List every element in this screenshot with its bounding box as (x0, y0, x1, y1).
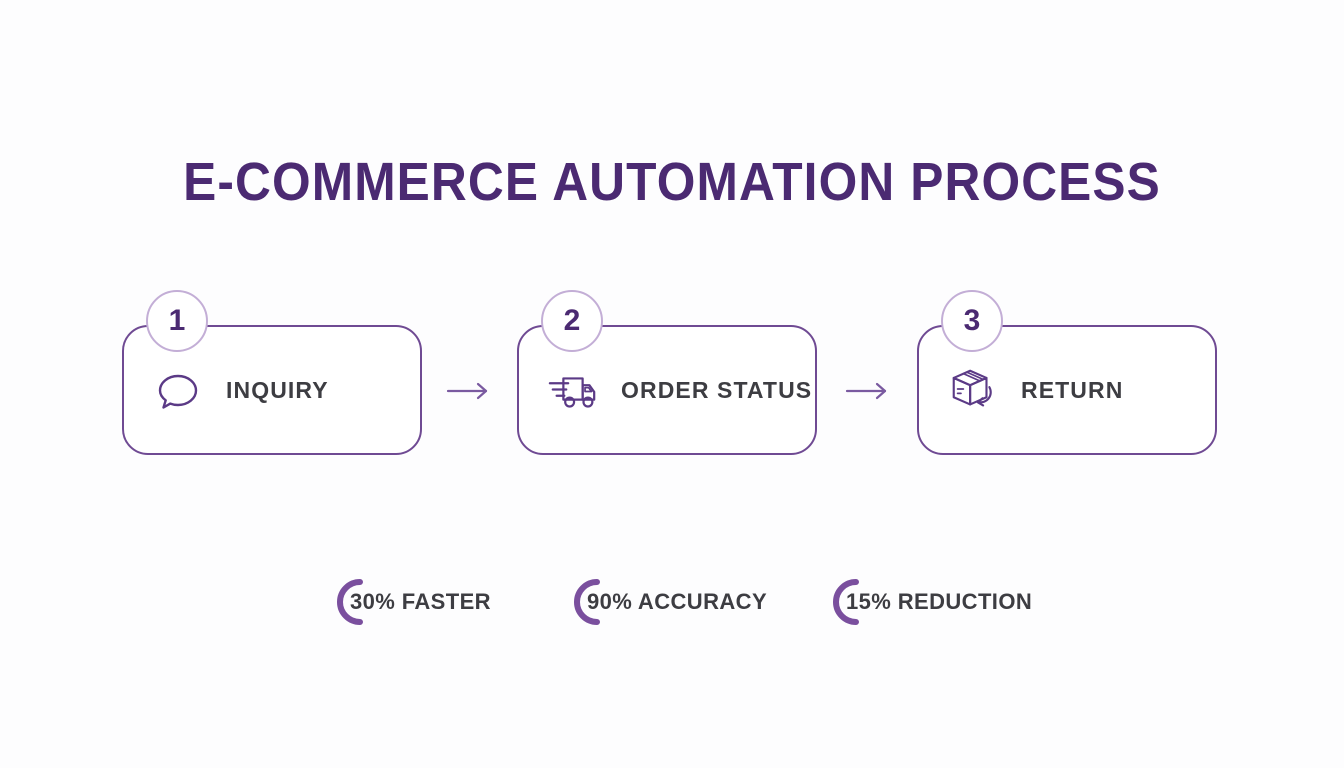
step-label: ORDER STATUS (621, 377, 812, 404)
step-number-badge: 2 (541, 290, 603, 352)
process-step-card-return[interactable]: 3 (917, 325, 1217, 455)
arrow-right-icon (446, 380, 494, 402)
process-flow: 1 INQUIRY 2 (0, 322, 1344, 462)
step-label: RETURN (1021, 377, 1123, 404)
step-number-badge: 1 (146, 290, 208, 352)
process-step-card-order-status[interactable]: 2 (517, 325, 817, 455)
stat-item-reduction: 15% REDUCTION (822, 566, 1032, 638)
stat-label: 30% FASTER (350, 566, 491, 638)
stat-item-accuracy: 90% ACCURACY (563, 566, 767, 638)
package-return-icon (947, 364, 999, 416)
stat-item-faster: 30% FASTER (326, 566, 491, 638)
delivery-truck-icon (547, 364, 599, 416)
arrow-right-icon (845, 380, 893, 402)
infographic-canvas: E-COMMERCE AUTOMATION PROCESS 1 INQUIRY (0, 0, 1344, 768)
page-title: E-COMMERCE AUTOMATION PROCESS (54, 152, 1290, 212)
step-label: INQUIRY (226, 377, 329, 404)
speech-bubble-icon (152, 364, 204, 416)
step-number-badge: 3 (941, 290, 1003, 352)
stats-row: 30% FASTER 90% ACCURACY 15% REDUCTION (0, 566, 1344, 646)
stat-label: 15% REDUCTION (846, 566, 1032, 638)
process-step-card-inquiry[interactable]: 1 INQUIRY (122, 325, 422, 455)
stat-label: 90% ACCURACY (587, 566, 767, 638)
